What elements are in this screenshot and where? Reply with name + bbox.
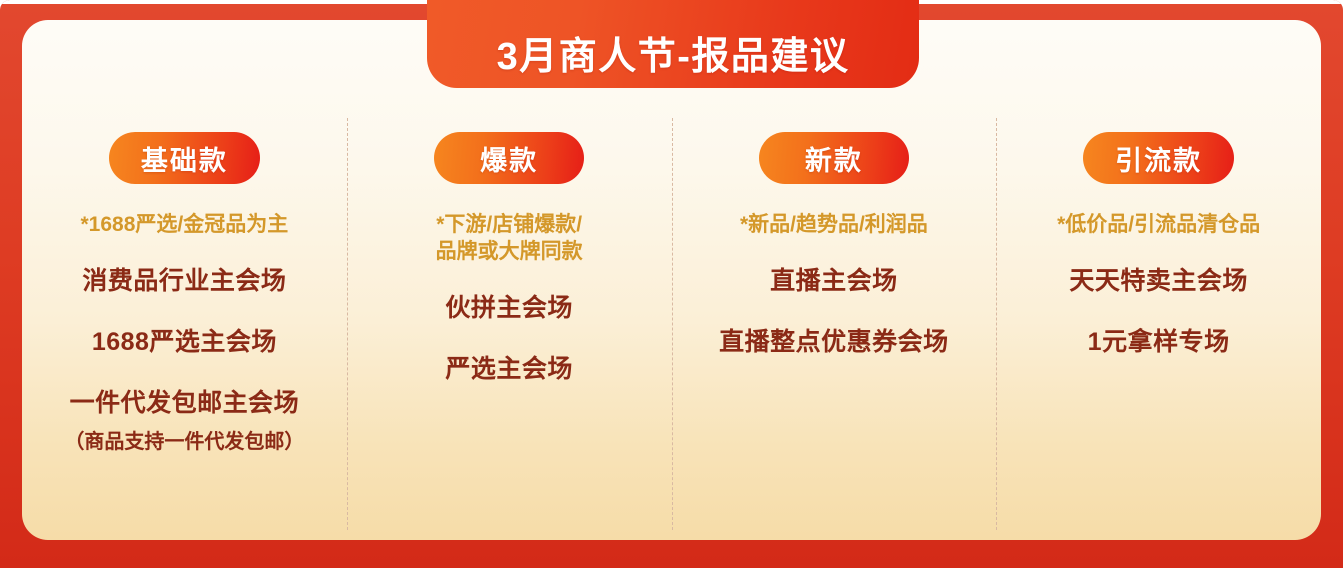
venue-item[interactable]: 伙拼主会场	[445, 288, 573, 324]
category-columns: 基础款 *1688严选/金冠品为主 消费品行业主会场 1688严选主会场 一件代…	[22, 110, 1321, 530]
category-badge-traffic[interactable]: 引流款	[1083, 132, 1234, 184]
venue-list-basic: 消费品行业主会场 1688严选主会场 一件代发包邮主会场 （商品支持一件代发包邮…	[22, 261, 347, 454]
venue-item[interactable]: 直播主会场	[770, 261, 898, 297]
category-subtitle-new: *新品/趋势品/利润品	[740, 212, 928, 239]
subtitle-line-1: *下游/店铺爆款/	[436, 213, 582, 236]
venue-list-hot: 伙拼主会场 严选主会场	[347, 288, 672, 385]
category-badge-basic[interactable]: 基础款	[109, 132, 260, 184]
category-subtitle-hot: *下游/店铺爆款/ 品牌或大牌同款	[436, 212, 583, 266]
promo-banner: 3月商人节-报品建议 基础款 *1688严选/金冠品为主 消费品行业主会场 16…	[0, 0, 1343, 568]
venue-item[interactable]: 严选主会场	[445, 349, 573, 385]
page-title: 3月商人节-报品建议	[497, 38, 850, 76]
category-badge-hot[interactable]: 爆款	[434, 132, 584, 184]
venue-item[interactable]: 1元拿样专场	[1088, 322, 1230, 358]
subtitle-line-2: 品牌或大牌同款	[436, 239, 583, 266]
banner-title-pill: 3月商人节-报品建议	[427, 0, 919, 88]
subtitle-line-1: *低价品/引流品清仓品	[1057, 213, 1260, 236]
category-subtitle-traffic: *低价品/引流品清仓品	[1057, 212, 1260, 239]
venue-item[interactable]: 直播整点优惠券会场	[719, 322, 949, 358]
venue-item[interactable]: 天天特卖主会场	[1069, 261, 1248, 297]
category-subtitle-basic: *1688严选/金冠品为主	[81, 212, 289, 239]
venue-item[interactable]: 一件代发包邮主会场	[70, 383, 300, 419]
category-column-traffic: 引流款 *低价品/引流品清仓品 天天特卖主会场 1元拿样专场	[996, 110, 1321, 530]
category-badge-new[interactable]: 新款	[759, 132, 909, 184]
subtitle-line-1: *新品/趋势品/利润品	[740, 213, 928, 236]
venue-list-new: 直播主会场 直播整点优惠券会场	[672, 261, 997, 358]
venue-item[interactable]: 1688严选主会场	[92, 322, 277, 358]
venue-item-note: （商品支持一件代发包邮）	[64, 425, 304, 454]
category-column-new: 新款 *新品/趋势品/利润品 直播主会场 直播整点优惠券会场	[672, 110, 997, 530]
venue-list-traffic: 天天特卖主会场 1元拿样专场	[996, 261, 1321, 358]
subtitle-line-1: *1688严选/金冠品为主	[81, 213, 289, 236]
venue-item[interactable]: 消费品行业主会场	[82, 261, 286, 297]
category-column-hot: 爆款 *下游/店铺爆款/ 品牌或大牌同款 伙拼主会场 严选主会场	[347, 110, 672, 530]
category-column-basic: 基础款 *1688严选/金冠品为主 消费品行业主会场 1688严选主会场 一件代…	[22, 110, 347, 530]
